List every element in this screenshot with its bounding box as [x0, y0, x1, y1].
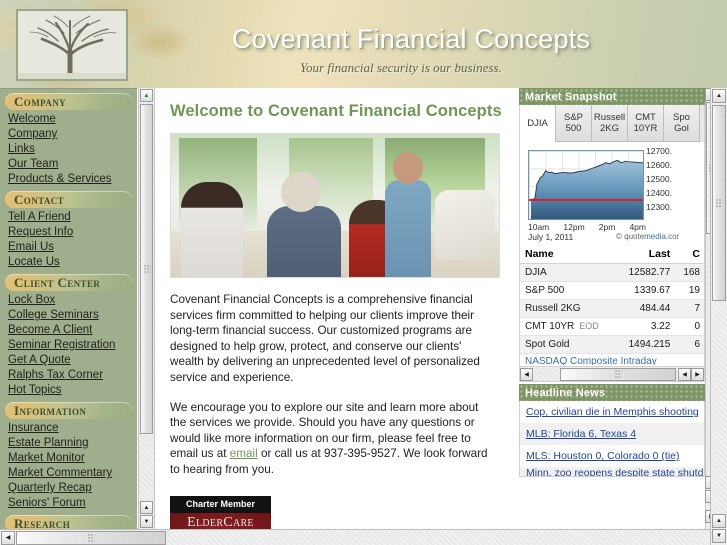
table-row[interactable]: Spot Gold 1494.215 6 [520, 336, 704, 354]
scrollbar-thumb[interactable] [140, 104, 153, 434]
scrollbar-track[interactable] [534, 368, 677, 381]
tab-djia[interactable]: DJIA [520, 105, 556, 142]
sidebar-item-email-us[interactable]: Email Us [0, 240, 137, 255]
quote-name-text: CMT 10YR [525, 321, 574, 332]
hero-family-image [170, 133, 500, 278]
market-quotes-table: Name Last C DJIA 12582.77 168 S&P 500 13… [520, 245, 704, 354]
sidebar-item-get-a-quote[interactable]: Get A Quote [0, 353, 137, 368]
credit-part-1: © quote [616, 232, 644, 241]
sidebar-item-market-monitor[interactable]: Market Monitor [0, 451, 137, 466]
quote-name: Spot Gold [520, 336, 616, 354]
scroll-up-button[interactable] [712, 89, 726, 103]
table-row[interactable]: S&P 500 1339.67 19 [520, 282, 704, 300]
chart-series-djia [529, 151, 643, 220]
sidebar-heading-label: Company [5, 95, 66, 108]
chart-date-label: July 1, 2011 [528, 232, 573, 242]
sidebar-heading-company: Company [5, 93, 132, 110]
scrollbar-thumb[interactable] [16, 531, 166, 545]
sidebar-item-quarterly-recap[interactable]: Quarterly Recap [0, 481, 137, 496]
scrollbar-grip-icon [716, 199, 723, 208]
right-column: Market Snapshot DJIA S&P 500 Russell 2KG… [519, 88, 705, 529]
quote-last: 1339.67 [616, 282, 675, 300]
sidebar-heading-label: Information [5, 404, 86, 417]
headline-news-list: Cop, civilian die in Memphis shooting ML… [519, 401, 705, 477]
sidebar-item-lock-box[interactable]: Lock Box [0, 293, 137, 308]
list-item[interactable]: Minn. zoo reopens despite state shutdown [520, 467, 704, 476]
hero-chair [435, 190, 495, 260]
tab-sp500[interactable]: S&P 500 [556, 105, 592, 142]
chart-previous-close-line [529, 199, 643, 201]
sidebar-item-college-seminars[interactable]: College Seminars [0, 308, 137, 323]
quote-change: 19 [674, 282, 704, 300]
quote-last: 12582.77 [616, 264, 675, 282]
list-item[interactable]: MLS: Houston 0, Colorado 0 (tie) [520, 445, 704, 467]
email-link[interactable]: email [230, 447, 258, 460]
scroll-down-button[interactable] [712, 529, 726, 543]
page-title: Welcome to Covenant Financial Concepts [170, 102, 510, 121]
quote-name-text: DJIA [525, 267, 547, 278]
tab-label-line1: Russell [592, 112, 627, 123]
tab-label-line1: Spo [664, 112, 699, 123]
column-header-last[interactable]: Last [616, 245, 675, 264]
list-item[interactable]: Cop, civilian die in Memphis shooting [520, 401, 704, 423]
tab-spot-gold[interactable]: Spo Gol [664, 105, 700, 142]
scrollbar-grip-icon [615, 370, 622, 379]
sidebar-heading-client-center: Client Center [5, 274, 132, 291]
chart-credit: © quotemedia.cor [616, 232, 679, 241]
list-item[interactable]: MLB: Florida 6, Texas 4 [520, 423, 704, 445]
badge-line-eldercare: ElderCare [170, 515, 271, 529]
hero-person-man-head [281, 172, 321, 212]
chart-y-axis-labels: 12700. 12600. 12500. 12400. 12300. [646, 144, 704, 214]
x-tick: 4pm [629, 222, 646, 232]
tree-logo-inner [18, 11, 126, 79]
scroll-up-button-bottom[interactable] [140, 501, 153, 514]
quote-name-text: S&P 500 [525, 285, 564, 296]
y-tick: 12500. [646, 172, 704, 186]
scrollbar-thumb[interactable] [560, 368, 676, 381]
sidebar-item-our-team[interactable]: Our Team [0, 157, 137, 172]
tab-label-line2: 500 [556, 123, 591, 134]
quote-name: Russell 2KG [520, 300, 616, 318]
hero-person-girl [181, 182, 243, 278]
headline-news-heading: Headline News [519, 384, 705, 401]
sidebar-item-become-a-client[interactable]: Become A Client [0, 323, 137, 338]
credit-part-2: media [644, 232, 666, 241]
sidebar-heading-contact: Contact [5, 191, 132, 208]
sidebar-item-links[interactable]: Links [0, 142, 137, 157]
scroll-right-button[interactable] [691, 368, 704, 381]
table-row[interactable]: CMT 10YREOD 3.22 0 [520, 318, 704, 336]
intro-paragraph-2: We encourage you to explore our site and… [170, 400, 496, 478]
djia-intraday-chart: 12700. 12600. 12500. 12400. 12300. 10am … [520, 142, 704, 245]
tab-russell-2kg[interactable]: Russell 2KG [592, 105, 628, 142]
y-tick: 12300. [646, 200, 704, 214]
content-frame-scrollbar[interactable] [138, 88, 155, 529]
quote-name-text: Spot Gold [525, 339, 569, 350]
hero-person-man-body [267, 206, 341, 278]
x-tick: 10am [528, 222, 549, 232]
table-row[interactable]: DJIA 12582.77 168 [520, 264, 704, 282]
tab-label-line2: Gol [664, 123, 699, 134]
column-header-change[interactable]: C [674, 245, 704, 264]
quote-eod-tag: EOD [574, 321, 599, 331]
y-tick: 12400. [646, 186, 704, 200]
chart-plot-area [528, 150, 644, 220]
browser-horizontal-scrollbar[interactable] [0, 529, 710, 545]
quote-last: 1494.215 [616, 336, 675, 354]
tree-svg [18, 11, 126, 79]
site-banner: Covenant Financial Concepts Your financi… [0, 0, 727, 88]
scroll-up-button-2[interactable] [712, 514, 726, 528]
sidebar-item-welcome[interactable]: Welcome [0, 112, 137, 127]
eldercare-matters-badge[interactable]: Charter Member ElderCare Matters® —Allia… [170, 496, 271, 529]
quote-name-text: Russell 2KG [525, 303, 581, 314]
badge-charter-member-label: Charter Member [170, 496, 271, 513]
credit-part-3: .cor [666, 232, 679, 241]
market-index-tabs: DJIA S&P 500 Russell 2KG CMT 10YR Spo Go… [520, 105, 704, 142]
intro-paragraph-1: Covenant Financial Concepts is a compreh… [170, 292, 496, 386]
browser-vertical-scrollbar[interactable] [710, 88, 727, 545]
market-snapshot-panel: DJIA S&P 500 Russell 2KG CMT 10YR Spo Go… [519, 105, 705, 382]
sidebar-item-insurance[interactable]: Insurance [0, 421, 137, 436]
scroll-left-button-2[interactable] [678, 368, 691, 381]
quote-change: 6 [674, 336, 704, 354]
table-header-row: Name Last C [520, 245, 704, 264]
quote-change: 0 [674, 318, 704, 336]
sidebar-item-products-services[interactable]: Products & Services [0, 172, 137, 187]
y-tick: 12600. [646, 158, 704, 172]
y-tick: 12700. [646, 144, 704, 158]
sidebar-heading-information: Information [5, 402, 132, 419]
quotes-partial-row[interactable]: NASDAQ Composite Intraday [520, 354, 704, 365]
scrollbar-thumb[interactable] [712, 105, 726, 301]
quote-name: S&P 500 [520, 282, 616, 300]
sidebar-item-ralphs-tax-corner[interactable]: Ralphs Tax Corner [0, 368, 137, 383]
scroll-left-button[interactable] [1, 531, 15, 545]
sidebar-item-seminar-registration[interactable]: Seminar Registration [0, 338, 137, 353]
sidebar-item-hot-topics[interactable]: Hot Topics [0, 383, 137, 398]
tab-label-line1: CMT [628, 112, 663, 123]
sidebar-item-locate-us[interactable]: Locate Us [0, 255, 137, 270]
column-header-name[interactable]: Name [520, 245, 616, 264]
sidebar-item-estate-planning[interactable]: Estate Planning [0, 436, 137, 451]
quote-change: 7 [674, 300, 704, 318]
tab-label-line2: 10YR [628, 123, 663, 134]
badge-body: ElderCare Matters® —Alliance— [170, 513, 271, 529]
x-tick: 2pm [599, 222, 616, 232]
tab-label-line1: S&P [556, 112, 591, 123]
sidebar-item-seniors-forum[interactable]: Seniors' Forum [0, 496, 137, 511]
sidebar-item-tell-a-friend[interactable]: Tell A Friend [0, 210, 137, 225]
scrollbar-grip-icon [88, 533, 95, 542]
site-tagline: Your financial security is our business. [300, 60, 502, 76]
quote-name: CMT 10YREOD [520, 318, 616, 336]
sidebar-item-market-commentary[interactable]: Market Commentary [0, 466, 137, 481]
x-tick: 12pm [563, 222, 584, 232]
quote-last: 484.44 [616, 300, 675, 318]
sidebar-item-request-info[interactable]: Request Info [0, 225, 137, 240]
table-row[interactable]: Russell 2KG 484.44 7 [520, 300, 704, 318]
scroll-up-button[interactable] [140, 89, 153, 102]
tab-label-line1: DJIA [520, 118, 555, 129]
quote-change: 168 [674, 264, 704, 282]
sidebar-heading-label: Contact [5, 193, 64, 206]
quotes-horizontal-scrollbar[interactable] [520, 366, 704, 381]
market-snapshot-heading: Market Snapshot [519, 88, 705, 105]
sidebar-heading-label: Client Center [5, 276, 100, 289]
hero-person-woman-head [393, 152, 423, 184]
tree-logo-image [16, 9, 128, 81]
sidebar-navigation: Company Welcome Company Links Our Team P… [0, 88, 137, 545]
quote-last: 3.22 [616, 318, 675, 336]
hero-person-woman-body [385, 180, 431, 278]
chart-x-axis-labels: 10am 12pm 2pm 4pm [528, 222, 646, 232]
tab-cmt-10yr[interactable]: CMT 10YR [628, 105, 664, 142]
scroll-down-button[interactable] [140, 515, 153, 528]
main-content: Welcome to Covenant Financial Concepts C… [156, 88, 510, 529]
scrollbar-grip-icon [143, 265, 150, 274]
scrollbar-track[interactable] [16, 531, 709, 545]
scroll-left-button[interactable] [520, 368, 533, 381]
quote-name: DJIA [520, 264, 616, 282]
sidebar-item-company[interactable]: Company [0, 127, 137, 142]
tab-label-line2: 2KG [592, 123, 627, 134]
site-title: Covenant Financial Concepts [232, 24, 590, 55]
